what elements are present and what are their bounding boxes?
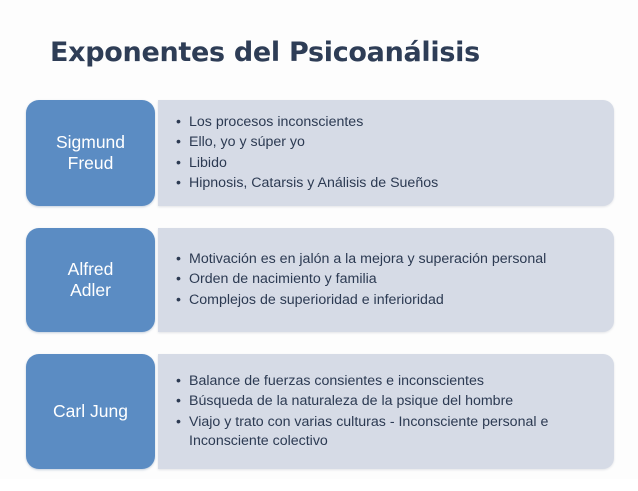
exponent-details-adler: • Motivación es en jalón a la mejora y s… [158, 228, 614, 332]
table-row: Sigmund Freud • Los procesos inconscient… [26, 100, 614, 206]
exponent-name-freud: Sigmund Freud [26, 100, 155, 206]
bullet-icon: • [176, 154, 181, 174]
list-item: • Hipnosis, Catarsis y Análisis de Sueño… [176, 174, 600, 194]
list-item: • Ello, yo y súper yo [176, 133, 600, 153]
page-title: Exponentes del Psicoanálisis [50, 37, 480, 68]
list-item-label: Hipnosis, Catarsis y Análisis de Sueños [189, 175, 438, 191]
exponent-name-adler: Alfred Adler [26, 228, 155, 332]
bullet-icon: • [176, 413, 181, 433]
bullet-icon: • [176, 174, 181, 194]
table-row: Carl Jung • Balance de fuerzas consiente… [26, 354, 614, 469]
list-item: • Motivación es en jalón a la mejora y s… [176, 250, 600, 270]
list-item-label: Viajo y trato con varias culturas - Inco… [189, 414, 548, 450]
list-item: • Libido [176, 154, 600, 174]
list-item-label: Motivación es en jalón a la mejora y sup… [189, 251, 546, 267]
list-item: • Orden de nacimiento y familia [176, 270, 600, 290]
exponent-name-line2: Freud [56, 153, 125, 174]
list-item: • Búsqueda de la naturaleza de la psique… [176, 392, 600, 412]
bullet-icon: • [176, 113, 181, 133]
bullet-icon: • [176, 133, 181, 153]
bullet-list: • Los procesos inconscientes • Ello, yo … [158, 113, 614, 194]
bullet-list: • Balance de fuerzas consientes e incons… [158, 372, 614, 452]
list-item: • Balance de fuerzas consientes e incons… [176, 372, 600, 392]
bullet-list: • Motivación es en jalón a la mejora y s… [158, 250, 614, 311]
list-item: • Complejos de superioridad e inferiorid… [176, 291, 600, 311]
list-item-label: Ello, yo y súper yo [189, 134, 305, 150]
list-item-label: Los procesos inconscientes [189, 114, 363, 130]
exponent-name-line1: Sigmund [56, 132, 125, 153]
bullet-icon: • [176, 291, 181, 311]
slide: Exponentes del Psicoanálisis Sigmund Fre… [0, 0, 638, 479]
list-item-label: Balance de fuerzas consientes e inconsci… [189, 373, 484, 389]
exponents-list: Sigmund Freud • Los procesos inconscient… [26, 100, 614, 491]
exponent-name-line1: Carl Jung [53, 401, 128, 422]
exponent-details-jung: • Balance de fuerzas consientes e incons… [158, 354, 614, 469]
bullet-icon: • [176, 270, 181, 290]
list-item: • Los procesos inconscientes [176, 113, 600, 133]
bullet-icon: • [176, 250, 181, 270]
list-item-label: Libido [189, 155, 227, 171]
list-item: • Viajo y trato con varias culturas - In… [176, 413, 600, 452]
list-item-label: Complejos de superioridad e inferioridad [189, 292, 444, 308]
list-item-label: Orden de nacimiento y familia [189, 271, 377, 287]
table-row: Alfred Adler • Motivación es en jalón a … [26, 228, 614, 332]
bullet-icon: • [176, 372, 181, 392]
bullet-icon: • [176, 392, 181, 412]
list-item-label: Búsqueda de la naturaleza de la psique d… [189, 393, 513, 409]
exponent-name-line1: Alfred [68, 259, 114, 280]
exponent-name-line2: Adler [68, 280, 114, 301]
exponent-details-freud: • Los procesos inconscientes • Ello, yo … [158, 100, 614, 206]
exponent-name-jung: Carl Jung [26, 354, 155, 469]
